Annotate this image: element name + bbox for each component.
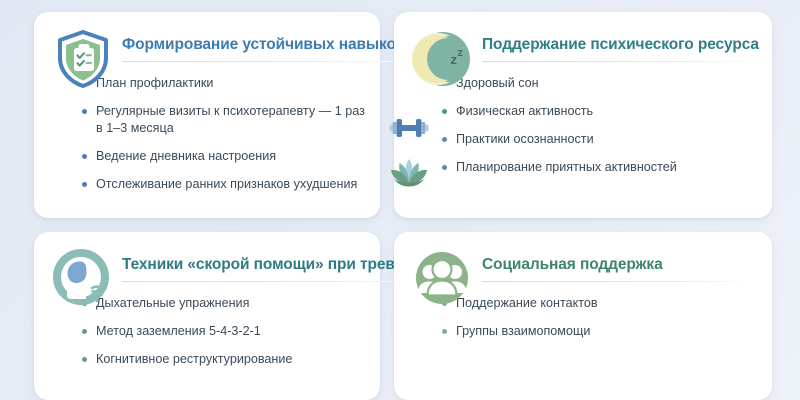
card-emergency-techniques-content: Техники «скорой помощи» при тревоге Дыха… [34,232,380,400]
list-item: Регулярные визиты к психотерапевту — 1 р… [82,103,366,137]
list-item: Практики осознанности [442,131,758,148]
card-mental-resource-list: Здоровый сон Физическая активность Практ… [442,75,758,176]
list-item: Метод заземления 5-4-3-2-1 [82,323,366,340]
card-social-support-title: Социальная поддержка [482,256,758,274]
people-group-icon [412,248,474,310]
list-item: Отслеживание ранних признаков ухудшения [82,176,366,193]
card-emergency-techniques-title-rule [122,281,419,282]
dumbbell-icon [386,108,432,148]
card-grid: Формирование устойчивых навыков План про… [34,12,778,400]
card-skills-header: Формирование устойчивых навыков [52,28,366,66]
card-social-support-header: Социальная поддержка [412,248,758,286]
card-skills-title-wrap: Формирование устойчивых навыков [122,28,405,62]
list-item: Группы взаимопомощи [442,323,758,340]
card-emergency-techniques[interactable]: Техники «скорой помощи» при тревоге Дыха… [34,232,380,400]
card-emergency-techniques-title-wrap: Техники «скорой помощи» при тревоге [122,248,419,282]
list-item: Ведение дневника настроения [82,148,366,165]
card-skills-list: План профилактики Регулярные визиты к пс… [82,75,366,192]
card-skills-title: Формирование устойчивых навыков [122,36,405,54]
card-emergency-techniques-header: Техники «скорой помощи» при тревоге [52,248,366,286]
card-skills[interactable]: Формирование устойчивых навыков План про… [34,12,380,218]
card-mental-resource-title-wrap: Поддержание психического ресурса [482,28,759,62]
list-item: Здоровый сон [442,75,758,92]
card-mental-resource[interactable]: z z Поддержание психического ресурса Здо… [394,12,772,218]
infographic-board: Формирование устойчивых навыков План про… [0,0,800,400]
lotus-icon [386,152,432,192]
card-emergency-techniques-title: Техники «скорой помощи» при тревоге [122,256,419,274]
card-social-support-content: Социальная поддержка Поддержание контакт… [394,232,772,400]
card-social-support-title-wrap: Социальная поддержка [482,248,758,282]
card-mental-resource-header: z z Поддержание психического ресурса [412,28,758,66]
card-social-support[interactable]: Социальная поддержка Поддержание контакт… [394,232,772,400]
card-mental-resource-content: z z Поддержание психического ресурса Здо… [394,12,772,218]
card-mental-resource-title-rule [482,61,759,62]
card-mental-resource-title: Поддержание психического ресурса [482,36,759,54]
svg-text:z: z [458,47,464,59]
list-item: План профилактики [82,75,366,92]
list-item: Физическая активность [442,103,758,120]
card-social-support-title-rule [482,281,758,282]
svg-text:z: z [451,52,458,67]
head-breathing-icon [52,248,114,310]
card-emergency-techniques-list: Дыхательные упражнения Метод заземления … [82,295,366,368]
shield-checklist-icon [52,28,114,90]
list-item: Дыхательные упражнения [82,295,366,312]
list-item: Планирование приятных активностей [442,159,758,176]
card-skills-title-rule [122,61,405,62]
moon-sleep-icon: z z [412,28,474,90]
card-social-support-list: Поддержание контактов Группы взаимопомощ… [442,295,758,340]
list-item: Поддержание контактов [442,295,758,312]
list-item: Когнитивное реструктурирование [82,351,366,368]
card-skills-content: Формирование устойчивых навыков План про… [34,12,380,218]
